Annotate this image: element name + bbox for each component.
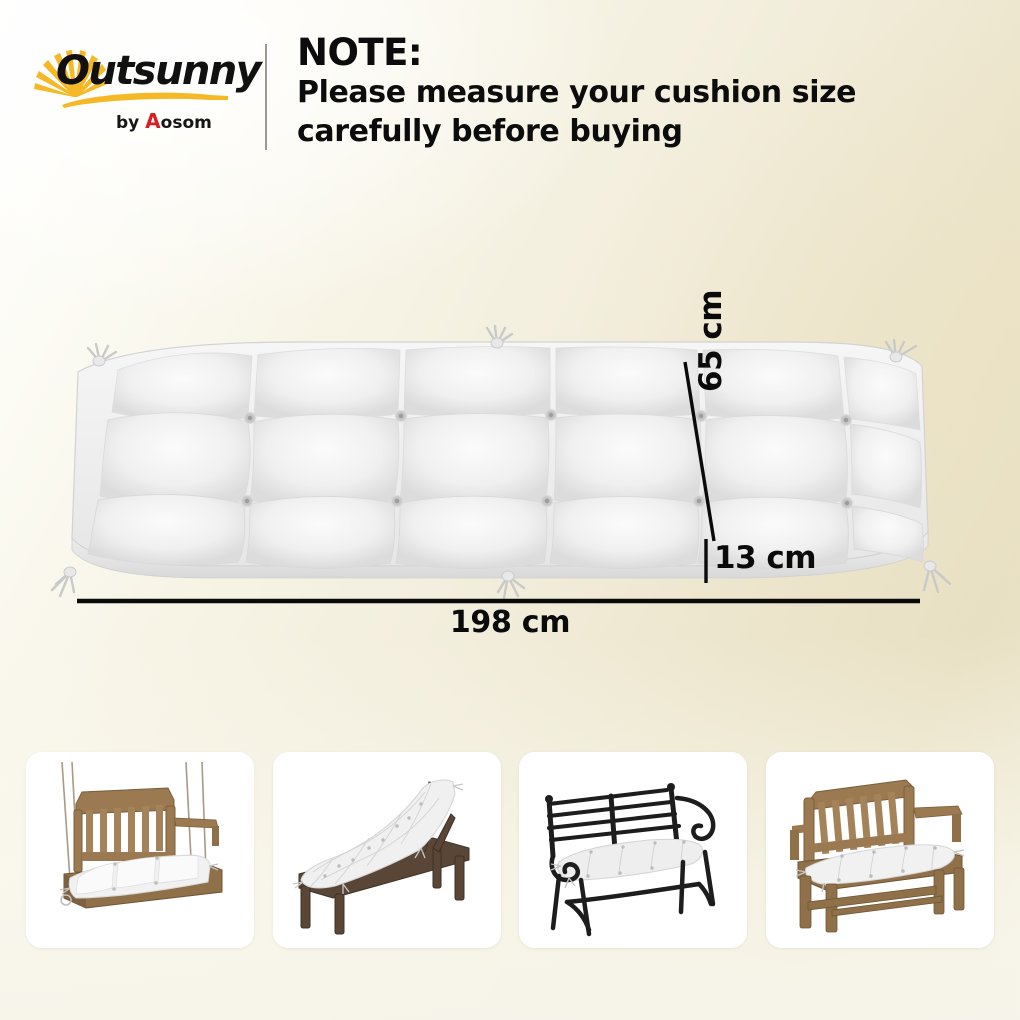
header-divider [265, 44, 267, 150]
dimension-width-label: 198 cm [0, 605, 1020, 640]
cushion-hero-image: tufted outdoor bench cushion [0, 300, 1020, 640]
logo-mark: Outsunny [34, 47, 234, 109]
logo-wordmark: Outsunny [56, 51, 260, 91]
note-title: NOTE: [297, 32, 997, 74]
thumbnail-card-porch-swing[interactable]: wooden porch swing with cushion [26, 752, 254, 948]
thumbnail-label-0: wooden porch swing with cushion [26, 752, 27, 753]
brand-logo: Outsunny by Aosom [34, 47, 234, 109]
product-infographic: Outsunny by Aosom NOTE: Please measure y… [0, 0, 1020, 1020]
porch-swing-illustration [26, 752, 254, 948]
dimension-thickness-label: 13 cm [714, 540, 816, 576]
thumbnail-label-2: black metal garden bench with cushion [519, 752, 520, 753]
note-line-1: Please measure your cushion size [297, 74, 997, 113]
header: Outsunny by Aosom NOTE: Please measure y… [0, 0, 1020, 175]
note-block: NOTE: Please measure your cushion size c… [297, 32, 997, 152]
byline-a: A [145, 109, 160, 133]
note-line-2: carefully before buying [297, 113, 997, 152]
metal-bench-illustration [519, 752, 747, 948]
thumbnail-label-3: wooden garden bench with cushion [766, 752, 767, 753]
byline-prefix: by [116, 113, 145, 133]
usage-thumbnail-row: wooden porch swing with cushion [0, 752, 1020, 964]
thumbnail-card-wooden-bench[interactable]: wooden garden bench with cushion [766, 752, 994, 948]
logo-swoosh [60, 91, 230, 109]
byline-rest: osom [161, 113, 212, 133]
thumbnail-card-metal-bench[interactable]: black metal garden bench with cushion [519, 752, 747, 948]
wooden-bench-illustration [766, 752, 994, 948]
cushion-illustration [0, 300, 1020, 640]
thumbnail-card-sun-lounger[interactable]: rattan sun lounger with cushion [273, 752, 501, 948]
thumbnail-label-1: rattan sun lounger with cushion [273, 752, 274, 753]
logo-byline: by Aosom [116, 109, 212, 133]
dimension-depth-label: 65 cm [693, 290, 729, 392]
sun-lounger-illustration [273, 752, 501, 948]
